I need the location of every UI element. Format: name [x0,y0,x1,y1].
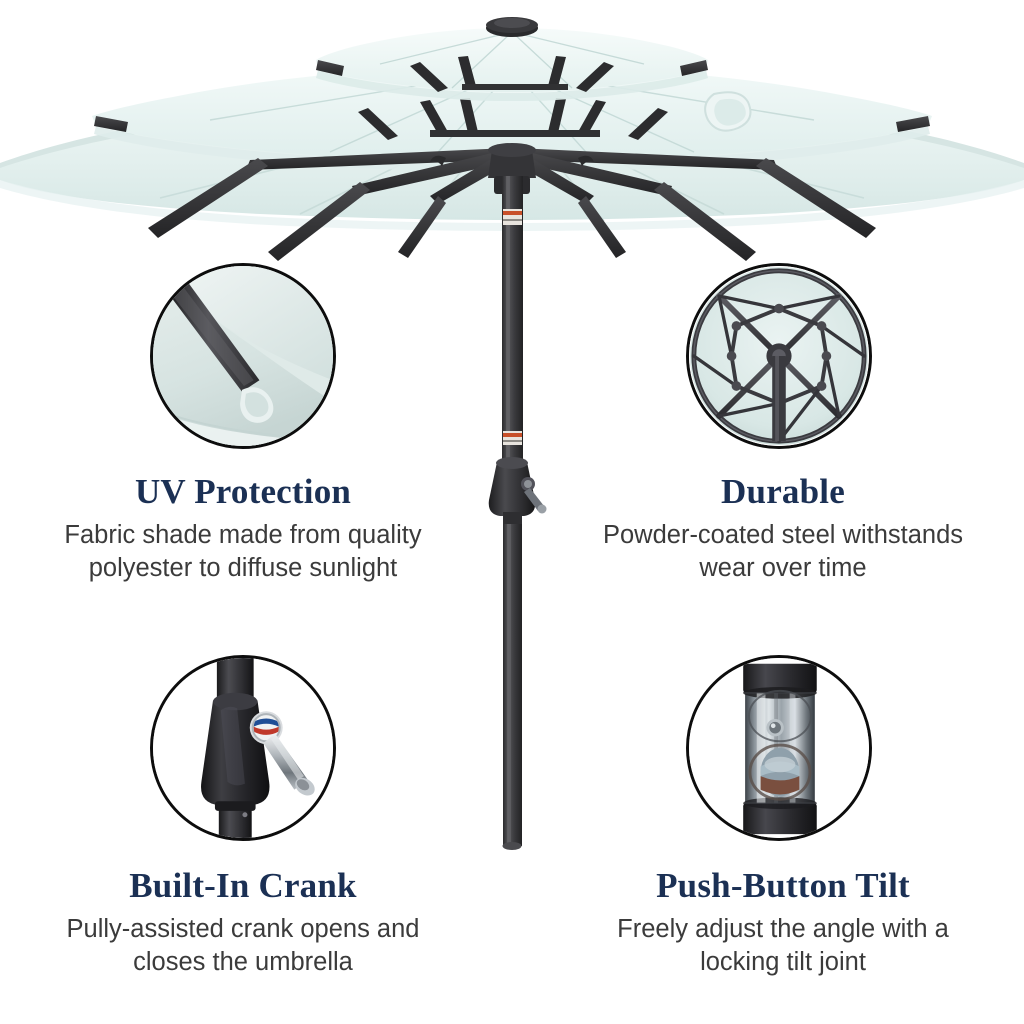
feature-description-built-in-crank: Pully-assisted crank opens and closes th… [8,913,478,979]
feature-title-built-in-crank: Built-In Crank [8,866,478,906]
umbrella-pole-lower [503,524,523,850]
canopy-tier-top [316,28,708,101]
vent-struts-top [410,56,614,92]
canopy-rib-tips-top [316,60,708,76]
canopy-tie-sleeve [705,92,750,130]
feature-description-line: Freely adjust the angle with a [548,913,1018,946]
feature-description-durable: Powder-coated steel withstands wear over… [548,519,1018,585]
feature-title-push-button-tilt: Push-Button Tilt [548,866,1018,906]
feature-title-uv-protection: UV Protection [8,472,478,512]
feature-inset-uv-protection [150,263,336,449]
feature-description-line: Pully-assisted crank opens and [8,913,478,946]
pole-label [503,209,522,445]
canopy-finial [486,17,538,37]
feature-title-durable: Durable [548,472,1018,512]
feature-description-uv-protection: Fabric shade made from quality polyester… [8,519,478,585]
feature-text-built-in-crank: Built-In Crank Pully-assisted crank open… [8,866,478,979]
feature-description-line: closes the umbrella [8,946,478,979]
feature-text-uv-protection: UV Protection Fabric shade made from qua… [8,472,478,585]
feature-text-durable: Durable Powder-coated steel withstands w… [548,472,1018,585]
vent-struts-middle [358,98,668,140]
feature-description-line: polyester to diffuse sunlight [8,552,478,585]
feature-description-push-button-tilt: Freely adjust the angle with a locking t… [548,913,1018,979]
crank-handle-closeup-icon [153,658,333,838]
canopy-tier-bottom [0,96,1024,231]
feature-description-line: locking tilt joint [548,946,1018,979]
feature-inset-durable [686,263,872,449]
feature-inset-built-in-crank [150,655,336,841]
feature-inset-push-button-tilt [686,655,872,841]
feature-text-push-button-tilt: Push-Button Tilt Freely adjust the angle… [548,866,1018,979]
canopy-tier-middle [92,66,932,172]
feature-description-line: Fabric shade made from quality [8,519,478,552]
umbrella-pole-upper [502,176,523,466]
feature-description-line: wear over time [548,552,1018,585]
feature-description-line: Powder-coated steel withstands [548,519,1018,552]
canopy-hub-and-ribs [148,143,876,261]
canopy-underside-frame-icon [689,266,869,446]
infographic-canvas: UV Protection Fabric shade made from qua… [0,0,1024,1024]
tilt-joint-closeup-icon [689,658,869,838]
crank-housing [489,457,547,526]
fabric-edge-closeup-icon [153,266,333,446]
canopy-rib-tips-middle [94,116,930,132]
